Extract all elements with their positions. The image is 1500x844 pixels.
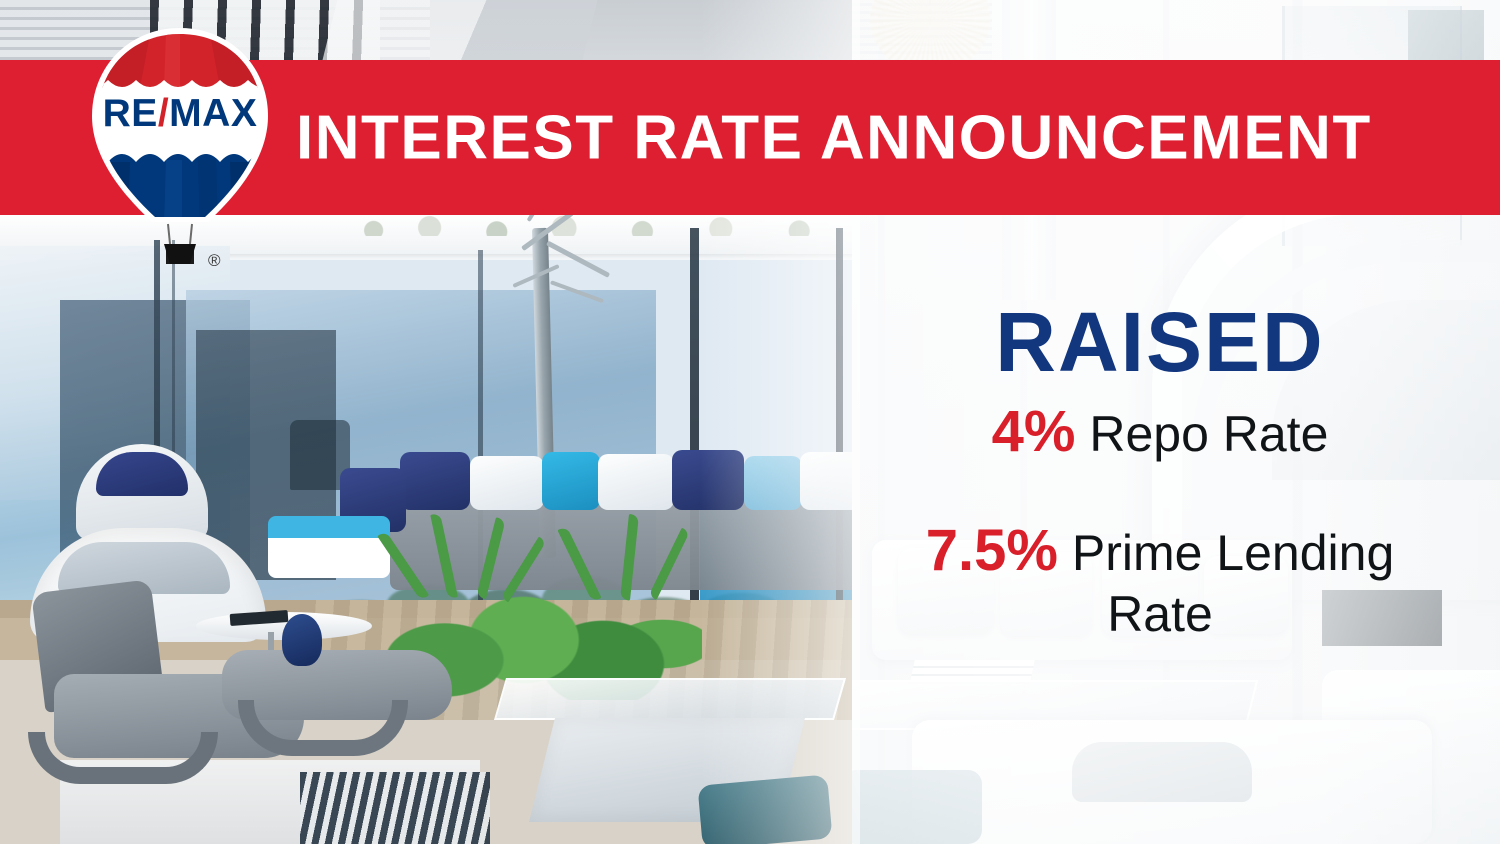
headline-raised: RAISED — [880, 300, 1440, 384]
rate-announcement-block: RAISED 4% Repo Rate 7.5% Prime Lending R… — [880, 300, 1440, 643]
blue-decor-object — [282, 614, 322, 666]
prime-rate-value: 7.5% — [926, 518, 1058, 583]
gray-ottoman — [222, 650, 472, 790]
repo-rate-label: Repo Rate — [1089, 406, 1328, 462]
teal-cushion-right — [852, 770, 982, 844]
gray-cushion — [1072, 742, 1252, 802]
page-title: INTEREST RATE ANNOUNCEMENT — [296, 102, 1372, 173]
remax-wordmark: RE/MAX — [103, 92, 258, 135]
coffee-table-glass — [494, 678, 846, 720]
teal-pillow — [697, 774, 832, 844]
announcement-graphic: INTEREST RATE ANNOUNCEMENT — [0, 0, 1500, 844]
prime-rate-line: 7.5% Prime Lending Rate — [880, 517, 1440, 642]
sofa-cushion — [744, 456, 802, 510]
remax-balloon-logo[interactable]: RE/MAX ® — [80, 22, 280, 272]
repo-rate-line: 4% Repo Rate — [880, 398, 1440, 465]
lounge-base — [28, 732, 218, 784]
repo-rate-value: 4% — [992, 399, 1076, 464]
prime-rate-label: Prime Lending Rate — [1072, 525, 1394, 641]
registered-mark: ® — [208, 251, 221, 270]
ottoman-base — [238, 700, 408, 756]
window-mullion — [836, 228, 843, 658]
